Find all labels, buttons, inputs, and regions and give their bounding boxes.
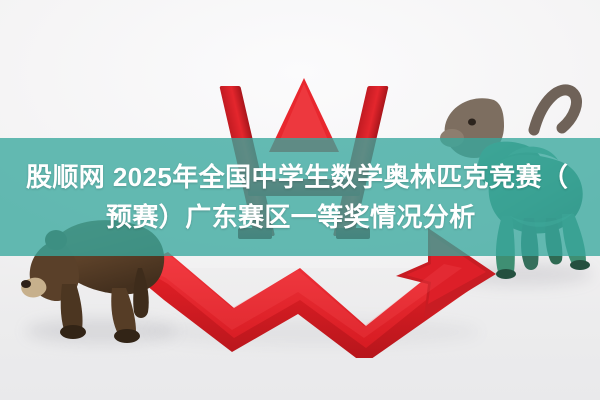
bear-nose [21,280,31,288]
bear-paw-hind [114,329,140,343]
teal-overlay-band [0,138,600,256]
cover-image: 股顺网 2025年全国中学生数学奥林匹克竞赛（ 预赛）广东赛区一等奖情况分析 [0,0,600,400]
bull-eye [468,119,476,126]
bull-hoof-front [496,269,516,279]
bull-hoof-hind [570,260,590,270]
bull-tail [534,90,577,130]
a-apex-highlight [280,84,328,140]
bear-paw-front [60,325,86,339]
